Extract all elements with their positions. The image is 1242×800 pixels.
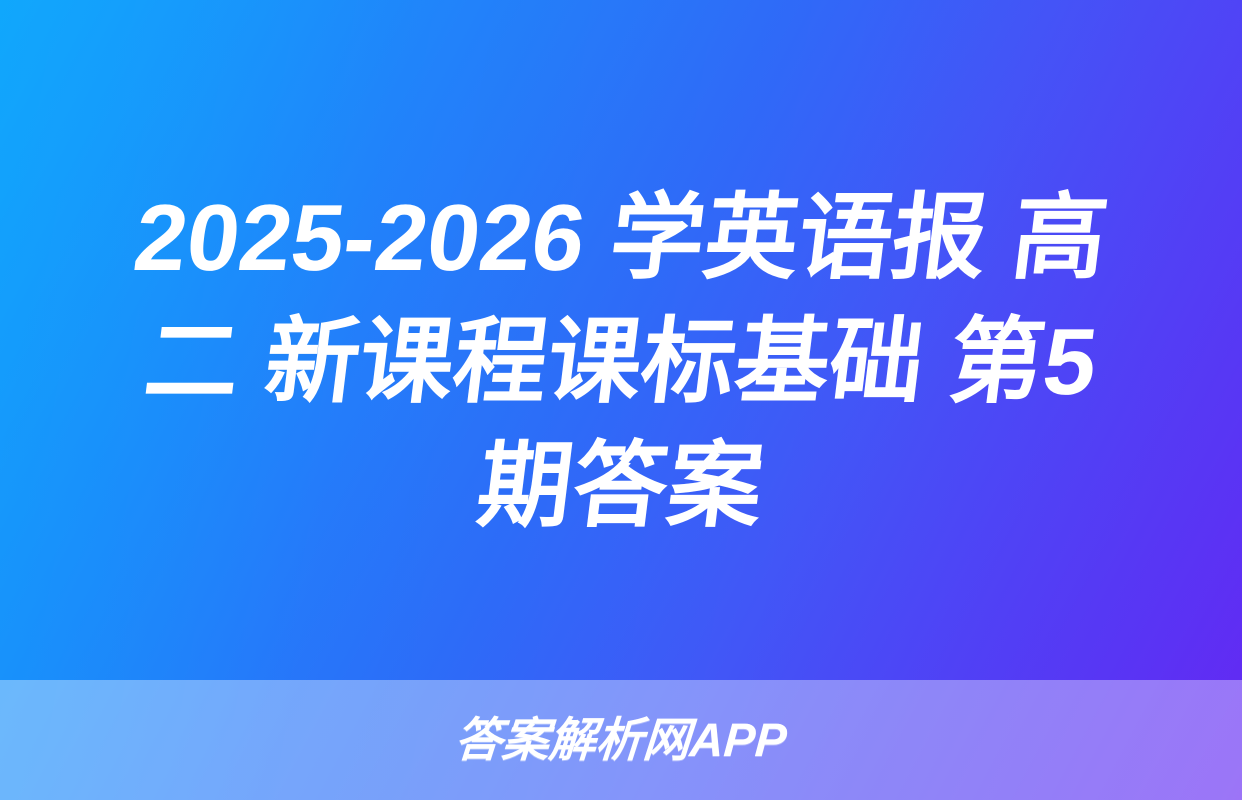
page-title: 2025-2026 学英语报 高 二 新课程课标基础 第5 期答案 bbox=[0, 176, 1242, 548]
app-watermark-label: 答案解析网APP bbox=[453, 714, 788, 766]
title-line-1: 2025-2026 学英语报 高 bbox=[18, 176, 1223, 300]
cover-banner: 2025-2026 学英语报 高 二 新课程课标基础 第5 期答案 答案解析网A… bbox=[0, 0, 1242, 800]
title-line-3: 期答案 bbox=[18, 424, 1223, 548]
title-line-2: 二 新课程课标基础 第5 bbox=[18, 300, 1223, 424]
footer-watermark-band: 答案解析网APP bbox=[0, 680, 1242, 800]
